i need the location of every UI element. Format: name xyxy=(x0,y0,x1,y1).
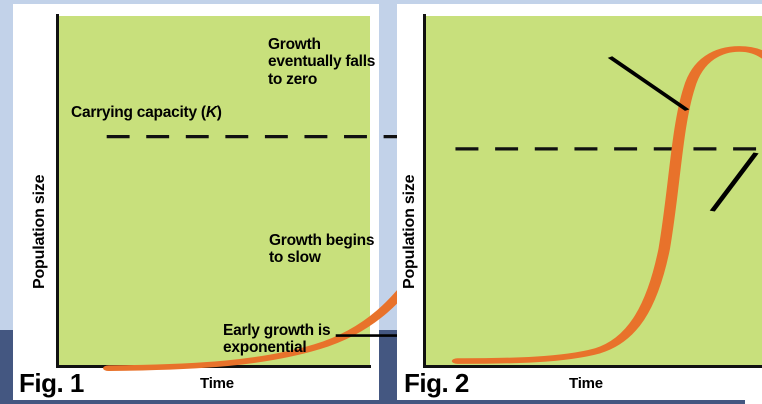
annotation-growth-falls-to-zero: Growth eventually falls to zero xyxy=(268,36,388,88)
y-axis-line-fig-2 xyxy=(423,14,426,368)
frame-strip-left-upper xyxy=(0,0,13,330)
figure-label-fig-1: Fig. 1 xyxy=(19,368,84,399)
panel-fig-1: Carrying capacity (K) Growth eventually … xyxy=(13,4,379,400)
y-axis-line-fig-1 xyxy=(56,14,59,368)
carrying-capacity-symbol-fig-1: K xyxy=(206,104,217,121)
y-axis-label-fig-1: Population size xyxy=(31,175,49,289)
y-axis-label-fig-2: Population size xyxy=(401,175,419,289)
figure-label-fig-2: Fig. 2 xyxy=(404,368,469,399)
carrying-capacity-prefix-fig-1: Carrying capacity ( xyxy=(71,104,206,121)
annotation-growth-begins-to-slow: Growth begins to slow xyxy=(269,232,379,267)
annotation-carrying-capacity-fig-1: Carrying capacity (K) xyxy=(71,104,222,121)
figure-root: Carrying capacity (K) Growth eventually … xyxy=(0,0,762,404)
x-axis-label-fig-1: Time xyxy=(200,375,234,392)
x-axis-line-fig-2 xyxy=(423,365,762,368)
plot-area-fig-2 xyxy=(424,16,762,366)
x-axis-label-fig-2: Time xyxy=(569,375,603,392)
x-axis-line-fig-1 xyxy=(56,365,371,368)
panel-fig-2: Overshoot Carrying capacity (K) Die-off … xyxy=(397,4,762,400)
frame-strip-left-lower xyxy=(0,330,13,404)
annotation-early-growth-exponential: Early growth is exponential xyxy=(223,322,383,357)
carrying-capacity-suffix-fig-1: ) xyxy=(217,104,222,121)
